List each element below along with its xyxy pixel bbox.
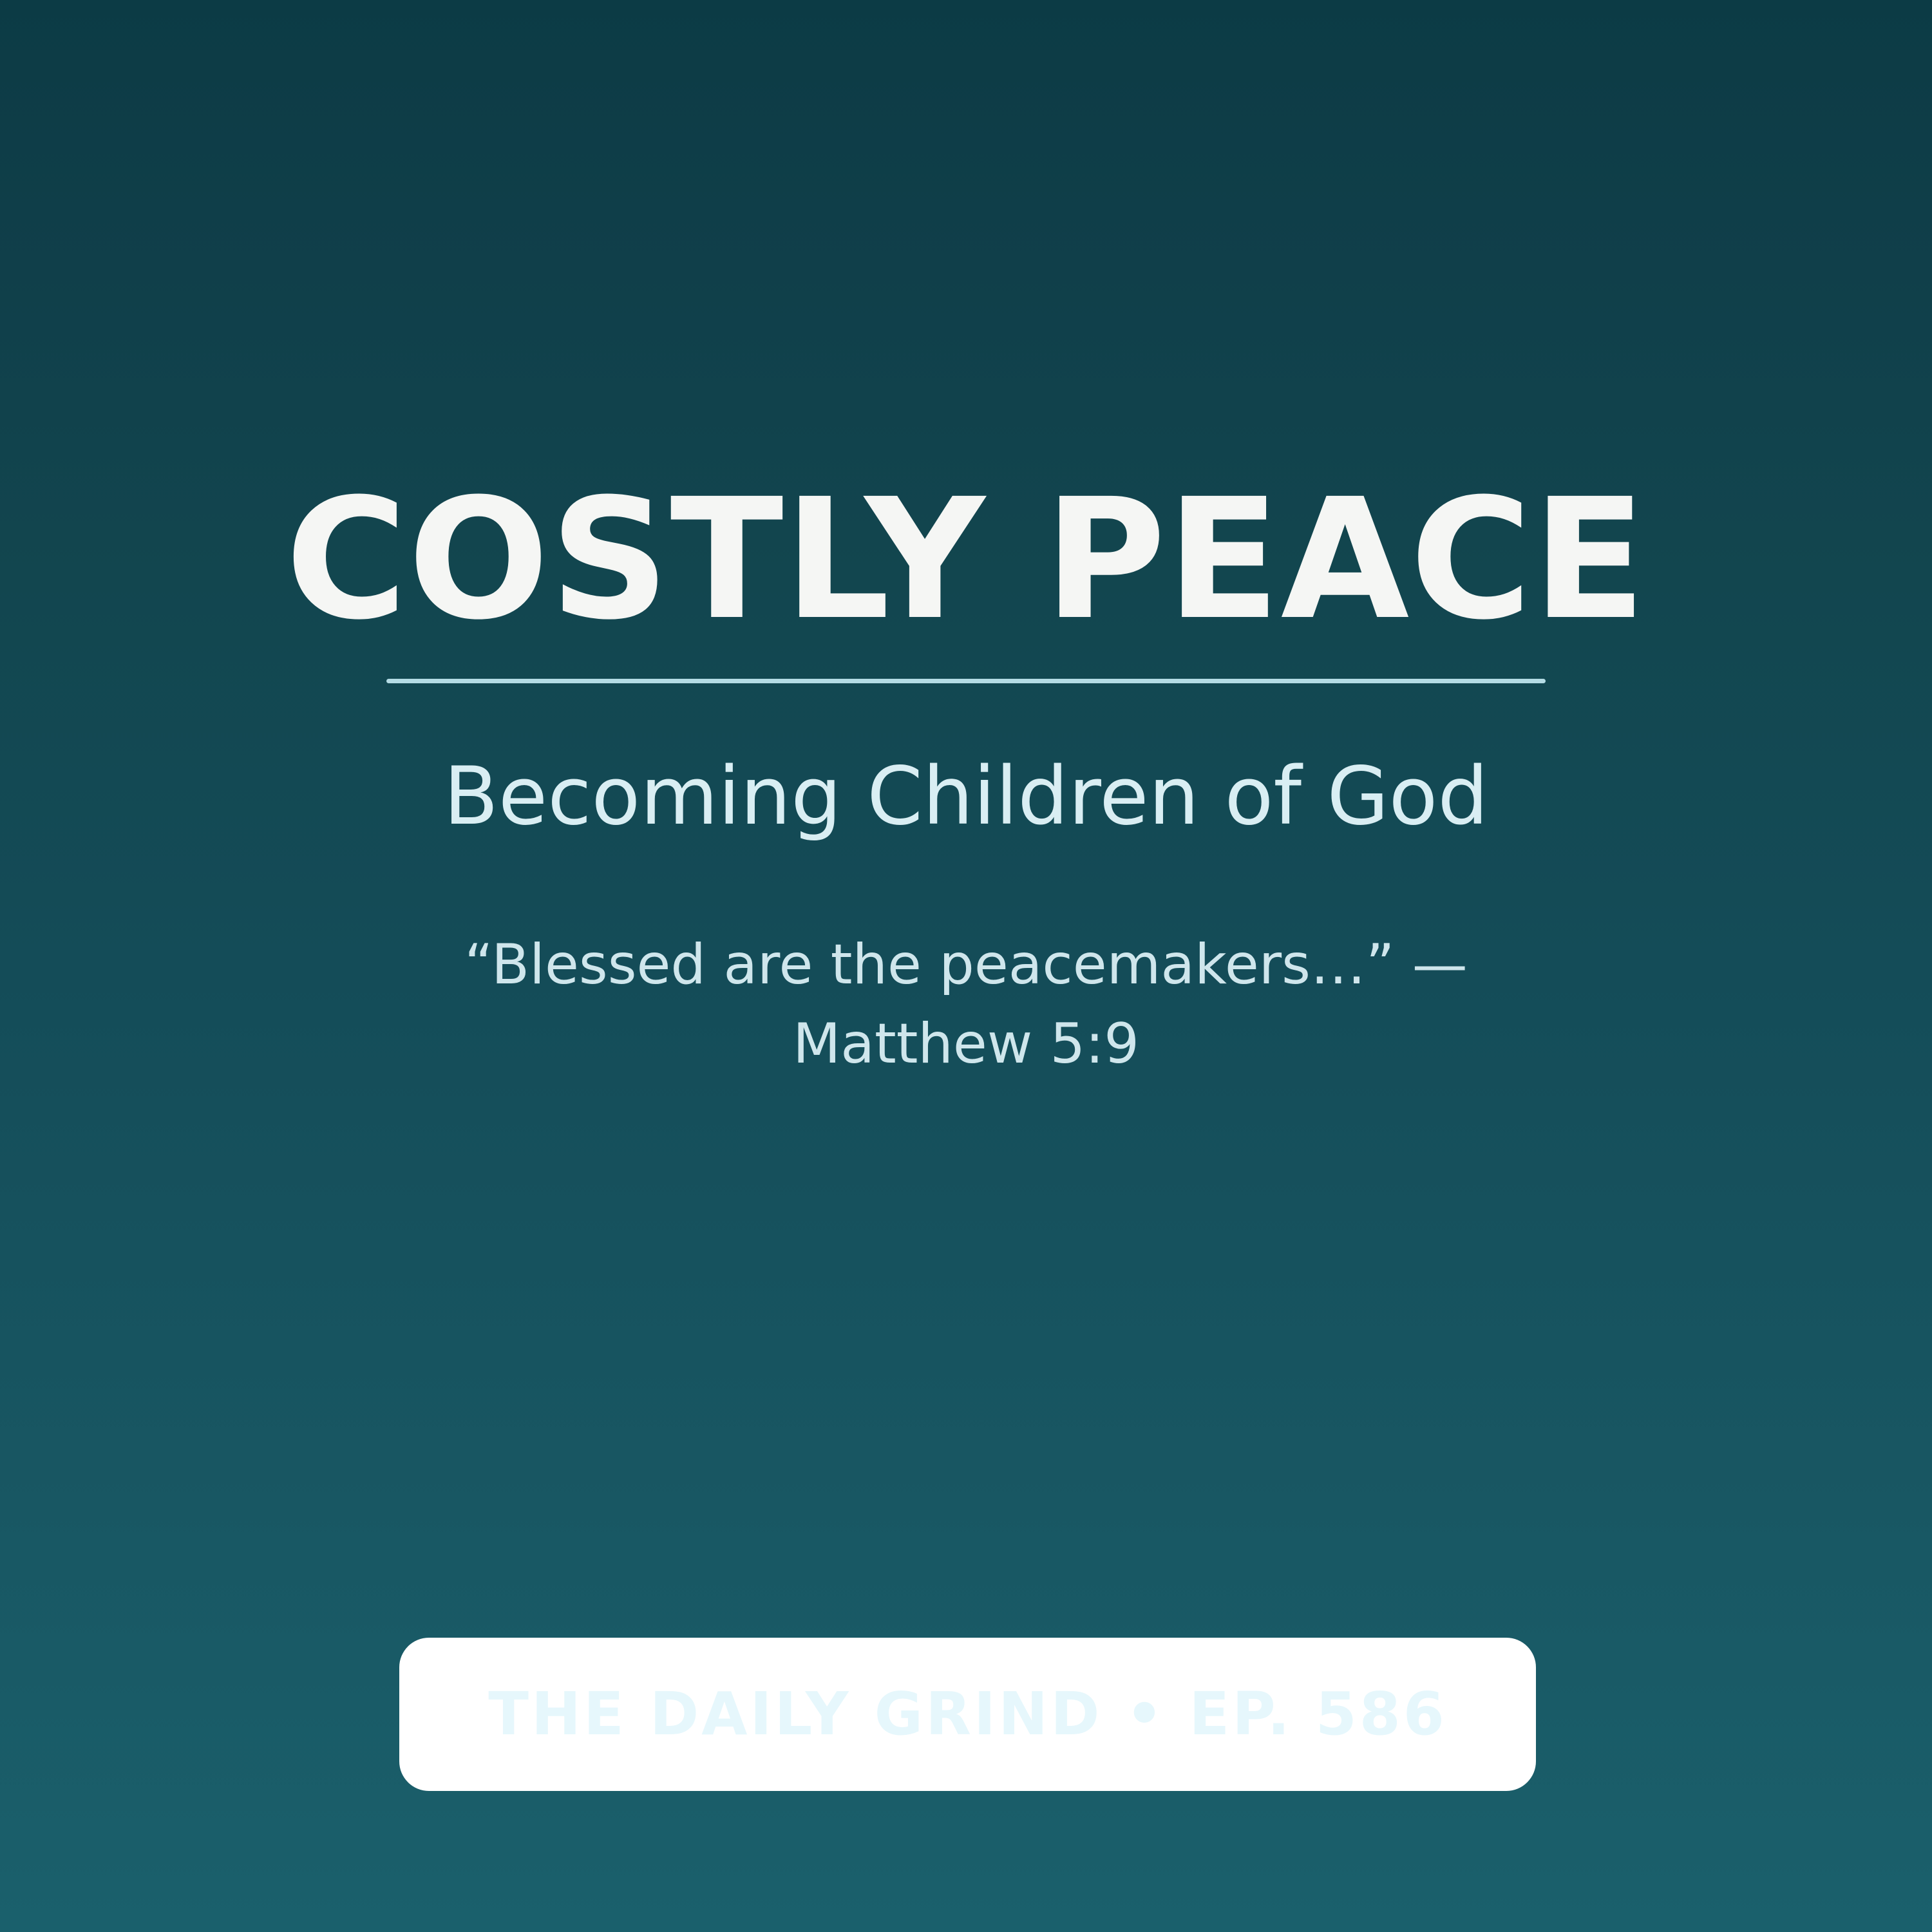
- title-slide: COSTLY PEACE Becoming Children of God “B…: [0, 0, 1932, 1932]
- slide-content-block: COSTLY PEACE Becoming Children of God “B…: [0, 477, 1932, 1083]
- episode-badge-label: THE DAILY GRIND • EP. 586: [488, 1685, 1447, 1744]
- episode-badge: THE DAILY GRIND • EP. 586: [399, 1638, 1536, 1791]
- title-underline-rule: [386, 679, 1546, 683]
- page-title: COSTLY PEACE: [285, 477, 1647, 643]
- slide-subtitle: Becoming Children of God: [444, 753, 1488, 840]
- scripture-quote: “Blessed are the peacemakers…” — Matthew…: [464, 925, 1468, 1083]
